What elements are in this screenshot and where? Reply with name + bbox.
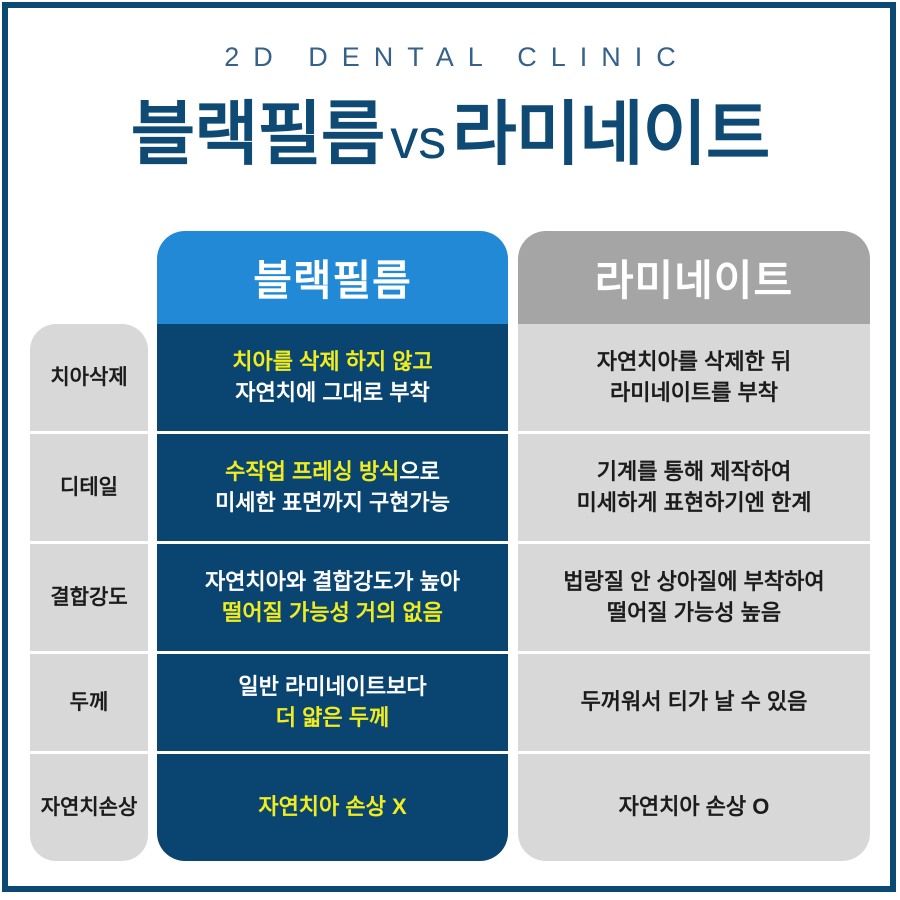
highlighted-text-line: 더 얇은 두께 (276, 703, 389, 733)
comparison-table: 치아삭제디테일결합강도두께자연치손상 블랙필름 치아를 삭제 하지 않고자연치에… (0, 231, 900, 861)
row-label: 두께 (30, 654, 148, 754)
text-line: 떨어질 가능성 높음 (607, 598, 781, 628)
row-label-column: 치아삭제디테일결합강도두께자연치손상 (30, 324, 148, 861)
row-label: 치아삭제 (30, 324, 148, 434)
clinic-name: 2D DENTAL CLINIC (0, 44, 900, 71)
laminate-cell: 자연치아를 삭제한 뒤라미네이트를 부착 (518, 324, 870, 434)
blackfilm-column-header: 블랙필름 (157, 231, 508, 324)
blackfilm-cell: 수작업 프레싱 방식으로미세한 표면까지 구현가능 (157, 434, 508, 544)
page-title: 블랙필름vs라미네이트 (0, 95, 900, 173)
row-label: 디테일 (30, 434, 148, 544)
row-label-line: 자연치 (41, 795, 99, 820)
text-line: 자연치아 손상 O (619, 792, 770, 822)
blackfilm-cell: 자연치아와 결합강도가 높아떨어질 가능성 거의 없음 (157, 544, 508, 654)
text-line: 미세하게 표현하기엔 한계 (577, 488, 812, 518)
title-right-term: 라미네이트 (452, 95, 769, 173)
blackfilm-cell: 자연치아 손상 X (157, 754, 508, 861)
blackfilm-cell: 치아를 삭제 하지 않고자연치에 그대로 부착 (157, 324, 508, 434)
laminate-cell: 자연치아 손상 O (518, 754, 870, 861)
highlighted-text-line: 자연치아 손상 X (258, 792, 406, 822)
blackfilm-column: 블랙필름 치아를 삭제 하지 않고자연치에 그대로 부착수작업 프레싱 방식으로… (157, 231, 508, 861)
row-label: 결합강도 (30, 544, 148, 654)
blackfilm-cell: 일반 라미네이트보다더 얇은 두께 (157, 654, 508, 754)
text-line: 미세한 표면까지 구현가능 (215, 488, 450, 518)
text-line: 자연치아를 삭제한 뒤 (597, 347, 791, 377)
text-line: 라미네이트를 부착 (610, 378, 778, 408)
page-header: 2D DENTAL CLINIC 블랙필름vs라미네이트 (0, 0, 900, 173)
laminate-column-header: 라미네이트 (518, 231, 870, 324)
laminate-column: 라미네이트 자연치아를 삭제한 뒤라미네이트를 부착기계를 통해 제작하여미세하… (518, 231, 870, 861)
text-line-suffix: 으로 (399, 459, 439, 484)
text-line: 기계를 통해 제작하여 (597, 457, 791, 487)
highlighted-text-line: 치아를 삭제 하지 않고 (232, 347, 433, 377)
laminate-cell: 두꺼워서 티가 날 수 있음 (518, 654, 870, 754)
laminate-cell: 법랑질 안 상아질에 부착하여떨어질 가능성 높음 (518, 544, 870, 654)
text-line: 자연치에 그대로 부착 (235, 378, 429, 408)
row-label: 자연치손상 (30, 754, 148, 861)
row-label-line: 손상 (99, 795, 138, 820)
text-line: 법랑질 안 상아질에 부착하여 (563, 567, 824, 597)
infographic-canvas: 2D DENTAL CLINIC 블랙필름vs라미네이트 치아삭제디테일결합강도… (0, 0, 900, 900)
highlighted-text-line: 수작업 프레싱 방식으로 (225, 457, 440, 487)
text-line: 두꺼워서 티가 날 수 있음 (581, 687, 808, 717)
title-vs: vs (384, 107, 452, 170)
laminate-cell: 기계를 통해 제작하여미세하게 표현하기엔 한계 (518, 434, 870, 544)
title-left-term: 블랙필름 (131, 95, 385, 173)
text-line: 자연치아와 결합강도가 높아 (205, 567, 460, 597)
text-line: 일반 라미네이트보다 (238, 672, 426, 702)
highlighted-text-line: 떨어질 가능성 거의 없음 (222, 598, 443, 628)
